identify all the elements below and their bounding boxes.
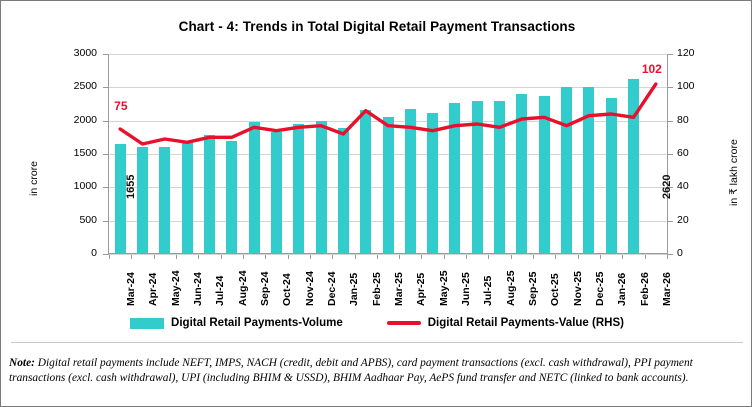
category-tick-label: Mar-25 — [393, 272, 405, 306]
first-volume-callout: 1655 — [125, 175, 137, 199]
category-tick-mark — [154, 255, 155, 259]
right-axis-title: in ₹ lakh crore — [728, 139, 740, 206]
legend-label-value: Digital Retail Payments-Value (RHS) — [428, 317, 624, 329]
left-tick-label: 1500 — [53, 147, 97, 159]
left-tick-mark — [103, 187, 108, 188]
category-tick-mark — [667, 255, 668, 259]
left-tick-label: 3000 — [53, 47, 97, 59]
category-tick-label: Aug-25 — [505, 270, 517, 306]
category-tick-label: Jul-24 — [214, 276, 226, 306]
category-tick-mark — [555, 255, 556, 259]
right-tick-label: 0 — [677, 247, 721, 259]
category-tick-mark — [377, 255, 378, 259]
category-tick-mark — [622, 255, 623, 259]
category-tick-mark — [645, 255, 646, 259]
right-tick-mark — [668, 54, 673, 55]
right-tick-mark — [668, 221, 673, 222]
plot-area — [109, 54, 667, 254]
last-value-callout: 102 — [642, 62, 662, 76]
chart-note: Note: Digital retail payments include NE… — [9, 356, 745, 385]
bar-swatch-icon — [130, 318, 164, 329]
category-tick-label: Oct-24 — [281, 273, 293, 306]
right-tick-label: 120 — [677, 47, 721, 59]
chart-card: Chart - 4: Trends in Total Digital Retai… — [0, 0, 752, 407]
legend-item-volume[interactable]: Digital Retail Payments-Volume — [130, 317, 343, 329]
category-tick-label: May-24 — [170, 270, 182, 306]
right-tick-label: 100 — [677, 80, 721, 92]
right-tick-mark — [668, 121, 673, 122]
left-tick-mark — [103, 121, 108, 122]
category-tick-mark — [310, 255, 311, 259]
line-series — [109, 54, 667, 254]
left-axis-title: in crore — [28, 161, 40, 196]
category-tick-mark — [243, 255, 244, 259]
category-tick-mark — [600, 255, 601, 259]
right-tick-mark — [668, 154, 673, 155]
category-tick-label: Jun-25 — [460, 272, 472, 306]
chart-title: Chart - 4: Trends in Total Digital Retai… — [1, 19, 752, 34]
category-tick-mark — [355, 255, 356, 259]
category-tick-label: Apr-24 — [147, 273, 159, 306]
category-tick-mark — [176, 255, 177, 259]
category-tick-mark — [198, 255, 199, 259]
right-tick-label: 20 — [677, 214, 721, 226]
chart-legend: Digital Retail Payments-Volume Digital R… — [1, 317, 752, 329]
legend-item-value[interactable]: Digital Retail Payments-Value (RHS) — [387, 317, 624, 329]
legend-label-volume: Digital Retail Payments-Volume — [171, 317, 343, 329]
note-prefix: Note: — [9, 357, 35, 369]
last-volume-callout: 2620 — [661, 175, 673, 199]
category-tick-mark — [221, 255, 222, 259]
category-tick-label: Nov-25 — [572, 271, 584, 306]
category-tick-mark — [332, 255, 333, 259]
left-tick-mark — [103, 87, 108, 88]
category-tick-label: Jul-25 — [482, 276, 494, 306]
category-tick-mark — [488, 255, 489, 259]
category-tick-mark — [421, 255, 422, 259]
category-tick-label: Dec-25 — [594, 272, 606, 306]
category-tick-mark — [444, 255, 445, 259]
category-tick-label: Oct-25 — [549, 273, 561, 306]
category-tick-label: Jan-26 — [616, 273, 628, 306]
category-tick-mark — [288, 255, 289, 259]
left-tick-mark — [103, 221, 108, 222]
category-tick-label: Sep-24 — [259, 272, 271, 306]
legend-divider — [11, 342, 743, 343]
category-tick-label: Jan-25 — [348, 273, 360, 306]
category-tick-mark — [399, 255, 400, 259]
category-tick-label: Mar-24 — [125, 272, 137, 306]
right-tick-mark — [668, 87, 673, 88]
category-tick-mark — [265, 255, 266, 259]
right-tick-label: 60 — [677, 147, 721, 159]
first-value-callout: 75 — [114, 99, 127, 113]
right-tick-label: 80 — [677, 114, 721, 126]
category-tick-label: Dec-24 — [326, 272, 338, 306]
category-tick-mark — [511, 255, 512, 259]
left-tick-mark — [103, 254, 108, 255]
category-tick-label: Aug-24 — [237, 270, 249, 306]
category-tick-label: Sep-25 — [527, 272, 539, 306]
category-tick-label: Feb-25 — [371, 272, 383, 306]
left-tick-label: 500 — [53, 214, 97, 226]
line-swatch-icon — [387, 321, 421, 325]
left-tick-mark — [103, 154, 108, 155]
category-tick-mark — [466, 255, 467, 259]
baseline-axis — [109, 253, 667, 254]
left-tick-mark — [103, 54, 108, 55]
note-body: Digital retail payments include NEFT, IM… — [9, 357, 693, 384]
category-tick-mark — [109, 255, 110, 259]
left-tick-label: 1000 — [53, 180, 97, 192]
category-tick-mark — [533, 255, 534, 259]
left-tick-label: 0 — [53, 247, 97, 259]
right-tick-label: 40 — [677, 180, 721, 192]
category-tick-mark — [131, 255, 132, 259]
right-tick-mark — [668, 254, 673, 255]
gridline — [109, 254, 667, 255]
category-tick-label: Apr-25 — [415, 273, 427, 306]
category-tick-label: Mar-26 — [661, 272, 673, 306]
category-tick-mark — [578, 255, 579, 259]
category-tick-label: Jun-24 — [192, 272, 204, 306]
left-tick-label: 2000 — [53, 114, 97, 126]
category-tick-label: Nov-24 — [304, 271, 316, 306]
category-tick-label: May-25 — [438, 270, 450, 306]
category-tick-label: Feb-26 — [639, 272, 651, 306]
left-tick-label: 2500 — [53, 80, 97, 92]
